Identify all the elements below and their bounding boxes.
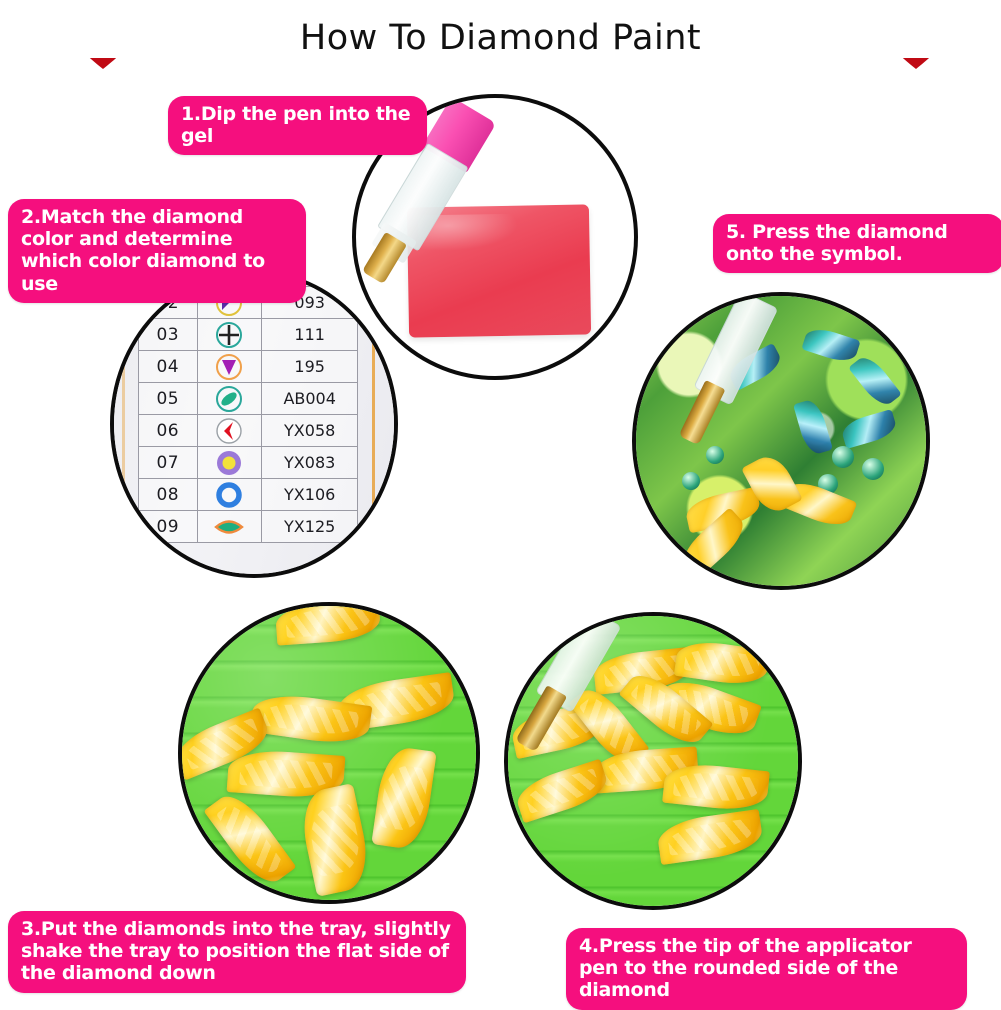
orange-leaf-green-fill-icon xyxy=(214,512,244,542)
row-number: 04 xyxy=(139,351,198,383)
page-title-text: How To Diamond Paint xyxy=(286,18,715,58)
facet-overlay xyxy=(667,818,753,856)
facet-overlay xyxy=(305,803,364,878)
row-number: 09 xyxy=(139,511,198,543)
row-number: 03 xyxy=(139,319,198,351)
row-code: YX083 xyxy=(262,447,358,479)
teal-circle-plus-icon xyxy=(214,320,244,350)
paper-stripe xyxy=(372,270,375,578)
step-5-photo xyxy=(632,292,930,590)
row-symbol xyxy=(197,511,262,543)
step-5-label: 5. Press the diamond onto the symbol. xyxy=(713,214,1001,273)
gem xyxy=(832,446,854,468)
row-symbol xyxy=(197,319,262,351)
row-number: 06 xyxy=(139,415,198,447)
diamond-tray-scene xyxy=(182,606,476,900)
row-code: YX106 xyxy=(262,479,358,511)
row-code: AB004 xyxy=(262,383,358,415)
table-row: 04 195 xyxy=(139,351,358,383)
chart-paper: 01 020 02 xyxy=(110,270,398,578)
row-symbol xyxy=(197,479,262,511)
facet-overlay xyxy=(379,763,429,832)
table-row: 09 YX125 xyxy=(139,511,358,543)
step-1-label: 1.Dip the pen into the gel xyxy=(168,96,427,155)
row-code: YX125 xyxy=(262,511,358,543)
blue-ring-icon xyxy=(214,480,244,510)
row-code: YX058 xyxy=(262,415,358,447)
facet-overlay xyxy=(286,606,371,637)
purple-ring-yellow-dot-icon xyxy=(214,448,244,478)
orange-circle-magenta-triangle-icon xyxy=(214,352,244,382)
step-2-label: 2.Match the diamond color and determine … xyxy=(8,199,306,303)
teal-circle-green-ellipse-icon xyxy=(214,384,244,414)
pen-pressing-diamond-scene xyxy=(508,616,798,906)
row-number: 05 xyxy=(139,383,198,415)
mandala-canvas-scene xyxy=(636,296,926,586)
table-row: 08 YX106 xyxy=(139,479,358,511)
row-code: 195 xyxy=(262,351,358,383)
row-number: 08 xyxy=(139,479,198,511)
page-title: How To Diamond Paint xyxy=(0,18,1001,58)
facet-overlay xyxy=(673,769,759,804)
paper-stripe xyxy=(122,270,125,578)
row-symbol xyxy=(197,415,262,447)
infographic-canvas: How To Diamond Paint 01 xyxy=(0,0,1001,1001)
color-chart-scene: 01 020 02 xyxy=(114,274,394,574)
facet-overlay xyxy=(262,699,359,739)
header: How To Diamond Paint xyxy=(0,0,1001,86)
row-code: 111 xyxy=(262,319,358,351)
gem xyxy=(682,472,700,490)
step-4-photo xyxy=(504,612,802,910)
facet-overlay xyxy=(239,757,334,792)
step-4-label: 4.Press the tip of the applicator pen to… xyxy=(566,928,967,1010)
row-number: 07 xyxy=(139,447,198,479)
step-2-photo: 01 020 02 xyxy=(110,270,398,578)
row-symbol xyxy=(197,447,262,479)
white-circle-red-arrow-icon xyxy=(214,416,244,446)
table-row: 03 111 xyxy=(139,319,358,351)
table-row: 06 YX058 xyxy=(139,415,358,447)
color-chart-table: 01 020 02 xyxy=(138,270,358,543)
row-symbol xyxy=(197,351,262,383)
row-symbol xyxy=(197,383,262,415)
table-row: 07 YX083 xyxy=(139,447,358,479)
table-row: 05 AB004 xyxy=(139,383,358,415)
facet-overlay xyxy=(684,646,760,680)
gem xyxy=(862,458,884,480)
step-3-photo xyxy=(178,602,480,904)
step-3-label: 3.Put the diamonds into the tray, slight… xyxy=(8,911,466,993)
